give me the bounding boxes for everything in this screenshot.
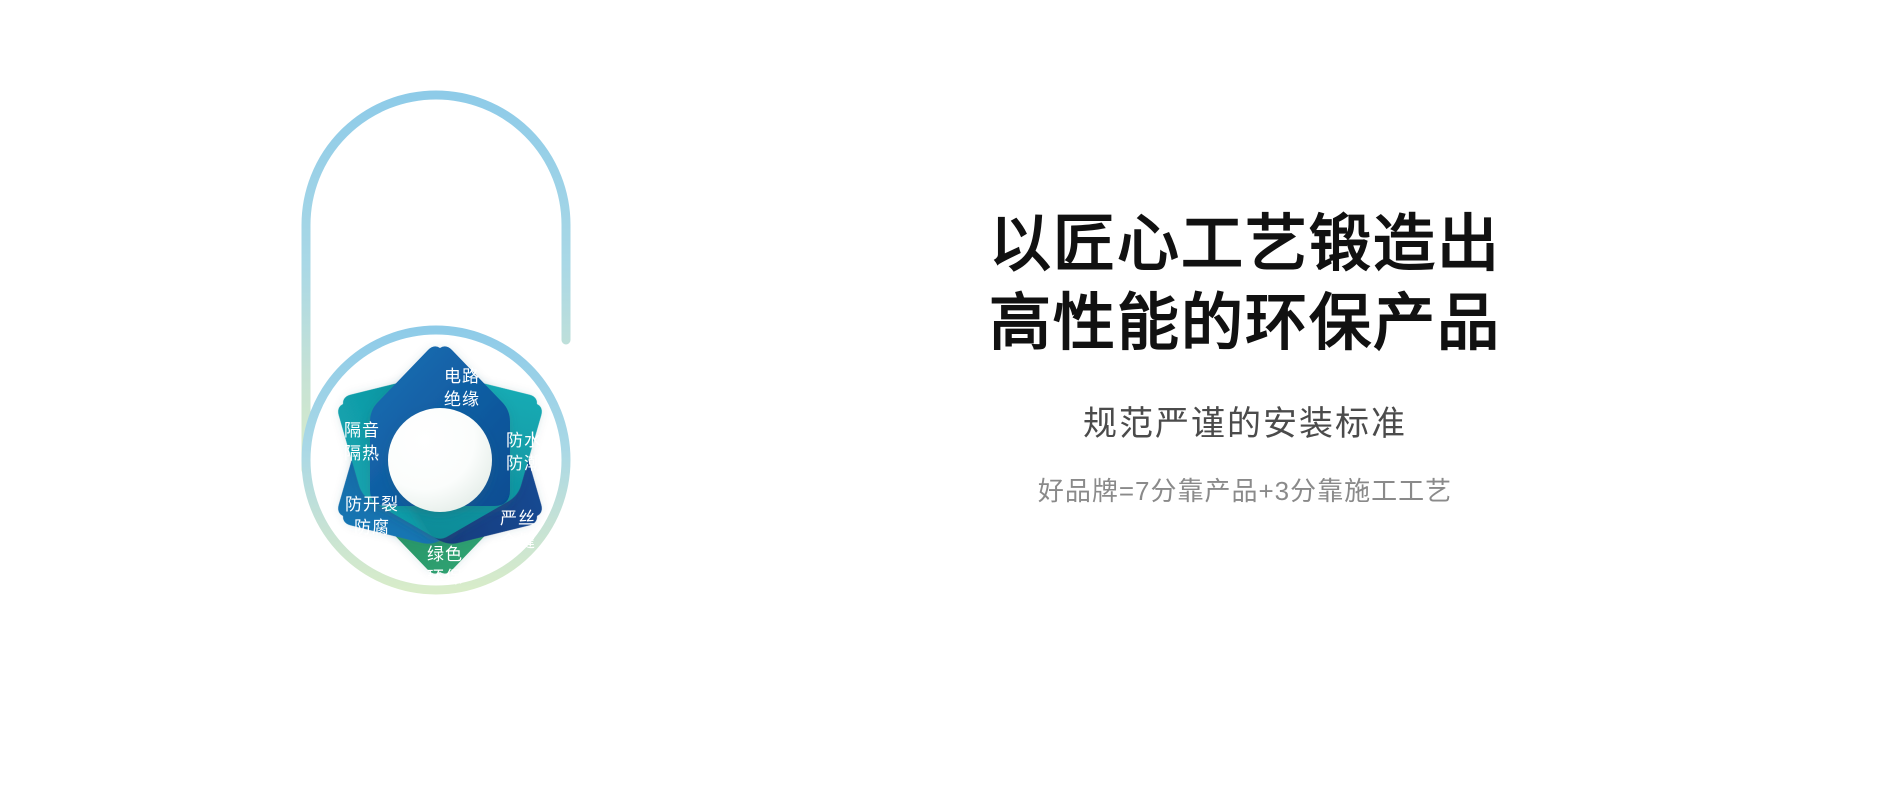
- petal-label-line1: 隔音: [344, 421, 380, 440]
- petal-label-line2: 防潮: [506, 454, 542, 473]
- headline-line-1: 以匠心工艺锻造出: [745, 205, 1745, 284]
- petal-label-line2: 隔热: [344, 444, 380, 463]
- petal-label-line1: 电路: [444, 367, 480, 386]
- flower-center-disc: [388, 408, 492, 512]
- petal-label-line2: 合缝: [500, 532, 536, 551]
- petal-label-line2: 环保: [427, 568, 463, 587]
- promo-banner: 电路 绝缘 防水 防潮 严丝 合缝 绿色 环保 防开裂 防腐: [0, 0, 1900, 785]
- headline: 以匠心工艺锻造出 高性能的环保产品: [745, 205, 1745, 364]
- tagline: 好品牌=7分靠产品+3分靠施工工艺: [745, 471, 1745, 508]
- petal-label-line1: 防开裂: [345, 495, 399, 514]
- six-petal-flower-diagram: 电路 绝缘 防水 防潮 严丝 合缝 绿色 环保 防开裂 防腐: [250, 40, 730, 740]
- petal-label-line2: 防腐: [354, 518, 390, 537]
- petal-label-line1: 严丝: [500, 509, 536, 528]
- petal-label-line1: 绿色: [427, 545, 463, 564]
- subheadline: 规范严谨的安装标准: [745, 396, 1745, 445]
- copy-block: 以匠心工艺锻造出 高性能的环保产品 规范严谨的安装标准 好品牌=7分靠产品+3分…: [745, 205, 1745, 508]
- petal-label-line2: 绝缘: [444, 390, 480, 409]
- petal-label-line1: 防水: [506, 431, 542, 450]
- headline-line-2: 高性能的环保产品: [745, 284, 1745, 363]
